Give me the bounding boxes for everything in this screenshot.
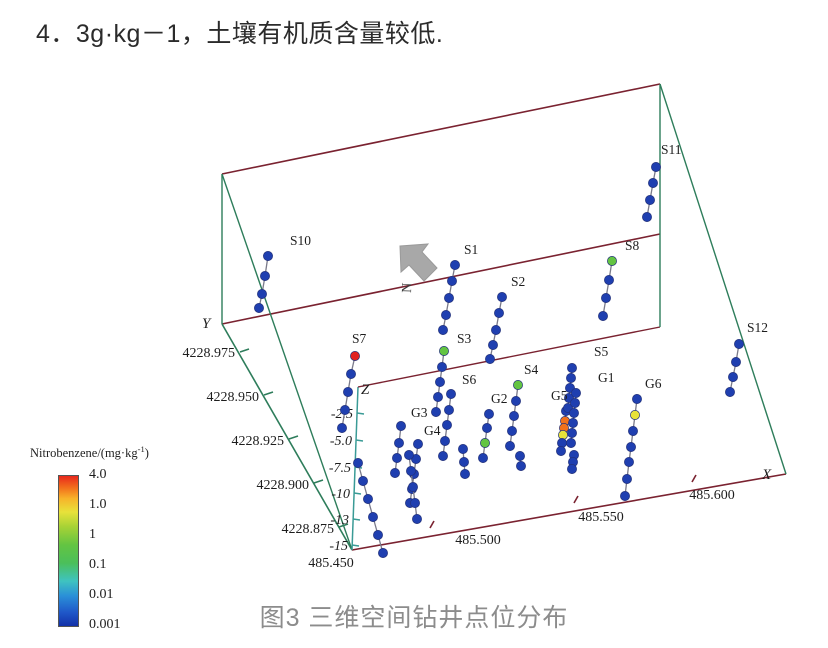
sample-point <box>567 464 576 473</box>
borehole-label-s3: S3 <box>457 331 472 346</box>
sample-point <box>497 292 506 301</box>
sample-point <box>494 308 503 317</box>
north-arrow-shape <box>400 244 437 281</box>
borehole-sb3 <box>458 444 469 478</box>
sample-point <box>378 548 387 557</box>
sample-point <box>509 411 518 420</box>
sample-point <box>413 439 422 448</box>
y-tick-2 <box>264 392 273 395</box>
sample-point <box>651 162 660 171</box>
borehole-s10 <box>254 251 272 312</box>
borehole-label-s1: S1 <box>464 242 478 257</box>
sample-point <box>337 423 346 432</box>
borehole-label-s5: S5 <box>594 344 609 359</box>
sample-point <box>630 410 639 419</box>
sample-point <box>567 428 576 437</box>
borehole-label-g4: G4 <box>424 423 441 438</box>
sample-point <box>598 311 607 320</box>
sample-point <box>404 450 413 459</box>
borehole-label-g6: G6 <box>645 376 662 391</box>
sample-point <box>263 251 272 260</box>
sample-point <box>568 418 577 427</box>
sample-point <box>406 466 415 475</box>
borehole-label-s2: S2 <box>511 274 525 289</box>
borehole-stem <box>259 256 268 308</box>
sample-point <box>628 426 637 435</box>
sample-point <box>390 468 399 477</box>
sample-point <box>566 438 575 447</box>
sample-point <box>604 275 613 284</box>
sample-point <box>480 438 489 447</box>
borehole-label-g2: G2 <box>491 391 508 406</box>
sample-point <box>435 377 444 386</box>
sample-point <box>642 212 651 221</box>
x-tick-3 <box>692 475 696 482</box>
sample-point <box>478 453 487 462</box>
borehole-stem <box>647 167 656 217</box>
sample-point <box>254 303 263 312</box>
borehole-label-s12: S12 <box>747 320 768 335</box>
borehole-sb4 <box>515 451 525 470</box>
y-tick-3 <box>289 436 298 439</box>
figure-caption: 图3 三维空间钻井点位分布 <box>0 598 828 634</box>
x-tick-2 <box>574 496 578 503</box>
sample-point <box>569 408 578 417</box>
borehole-s4 <box>505 380 522 450</box>
sample-point <box>408 482 417 491</box>
sample-point <box>731 357 740 366</box>
borehole-s12 <box>725 339 743 396</box>
borehole-stem <box>603 261 612 316</box>
sample-point <box>343 387 352 396</box>
borehole-stem <box>483 414 489 458</box>
borehole-label-s8: S8 <box>625 238 640 253</box>
axis-tick-marks <box>430 475 696 528</box>
sample-point <box>260 271 269 280</box>
y-tick-1 <box>240 349 249 352</box>
sample-point <box>632 394 641 403</box>
borehole-s8 <box>598 256 616 320</box>
sample-point <box>516 461 525 470</box>
sample-point <box>441 310 450 319</box>
sample-point <box>459 457 468 466</box>
z-tick-6 <box>352 545 359 546</box>
sample-point <box>438 325 447 334</box>
borehole-s11 <box>642 162 660 221</box>
colorbar-label-0: 4.0 <box>89 467 107 483</box>
box-edge-interior-horizontal <box>358 327 660 387</box>
colorbar-label-1: 1.0 <box>89 497 107 513</box>
x-tick-label-2: 485.550 <box>578 510 624 525</box>
x-tick-1 <box>430 521 434 528</box>
z-tick-label-4: -13 <box>330 513 349 528</box>
borehole-label-g3: G3 <box>411 405 428 420</box>
box-edge-top-back <box>222 84 660 174</box>
z-tick-5 <box>353 519 360 520</box>
sample-point <box>622 474 631 483</box>
borehole-g2 <box>478 409 493 462</box>
sample-point <box>392 453 401 462</box>
x-tick-label-3: 485.600 <box>689 488 735 503</box>
sample-point <box>440 436 449 445</box>
sample-point <box>511 396 520 405</box>
y-tick-label-0: 4228.975 <box>183 346 236 361</box>
sample-point <box>394 438 403 447</box>
z-tick-label-1: -5.0 <box>330 434 352 449</box>
sample-point <box>601 293 610 302</box>
sample-point <box>728 372 737 381</box>
z-tick-1 <box>357 413 364 414</box>
y-tick-label-3: 4228.900 <box>257 478 310 493</box>
z-tick-label-3: -10 <box>331 487 350 502</box>
borehole-label-s7: S7 <box>352 331 367 346</box>
north-arrow-icon <box>400 244 437 281</box>
boreholes-layer <box>254 162 743 557</box>
page-header-text: 4．3g·kg－1，土壤有机质含量较低. <box>36 14 443 50</box>
sample-point <box>505 441 514 450</box>
sample-point <box>515 451 524 460</box>
sample-point <box>373 530 382 539</box>
borehole-stem <box>730 344 739 392</box>
sample-point <box>513 380 522 389</box>
sample-point <box>556 446 565 455</box>
sample-point <box>358 476 367 485</box>
sample-point <box>450 260 459 269</box>
sample-point <box>410 498 419 507</box>
sample-point <box>624 457 633 466</box>
sample-point <box>567 363 576 372</box>
legend-title: Nitrobenzene/(mg·kg-1) <box>30 444 205 461</box>
borehole-sb1 <box>353 458 387 557</box>
sample-point <box>433 392 442 401</box>
sample-point <box>566 373 575 382</box>
sample-point <box>444 405 453 414</box>
sample-point <box>488 340 497 349</box>
sample-point <box>340 405 349 414</box>
borehole-label-g5: G5 <box>551 388 568 403</box>
z-tick-4 <box>354 493 361 494</box>
sample-point <box>571 388 580 397</box>
borehole-g3 <box>390 421 405 477</box>
sample-point <box>439 346 448 355</box>
sample-point <box>437 362 446 371</box>
axis-label-x: X <box>761 467 772 483</box>
x-tick-label-0: 485.450 <box>308 556 354 571</box>
sample-point <box>620 491 629 500</box>
sample-point <box>353 458 362 467</box>
sample-point <box>491 325 500 334</box>
sample-point <box>350 351 359 360</box>
sample-point <box>645 195 654 204</box>
sample-point <box>447 276 456 285</box>
borehole-s1 <box>438 260 459 334</box>
colorbar-label-3: 0.1 <box>89 557 107 573</box>
sample-point <box>626 442 635 451</box>
z-tick-2 <box>356 440 363 441</box>
sample-point <box>734 339 743 348</box>
legend-title-tail: ) <box>145 446 149 460</box>
sample-point <box>460 469 469 478</box>
y-tick-label-1: 4228.950 <box>207 390 260 405</box>
sample-point <box>444 293 453 302</box>
sample-point <box>431 407 440 416</box>
colorbar-label-2: 1 <box>89 527 96 543</box>
sample-point <box>412 514 421 523</box>
axis-label-y: Y <box>202 316 212 332</box>
legend-title-exponent: -1 <box>138 444 145 454</box>
sample-point <box>484 409 493 418</box>
borehole-label-s11: S11 <box>661 142 682 157</box>
borehole-label-s10: S10 <box>290 233 311 248</box>
sample-point <box>507 426 516 435</box>
figure-3d-scatter: Y X Z 485.450 485.500 485.550 485.600 42… <box>0 62 828 582</box>
sample-point <box>396 421 405 430</box>
sample-point <box>482 423 491 432</box>
sample-point <box>363 494 372 503</box>
z-tick-label-2: -7.5 <box>329 461 351 476</box>
borehole-s2 <box>485 292 506 363</box>
sample-point <box>607 256 616 265</box>
z-tick-label-5: -15 <box>329 539 348 554</box>
y-tick-4 <box>314 480 323 483</box>
borehole-label-g1: G1 <box>598 370 615 385</box>
legend-title-main: Nitrobenzene/(mg·kg <box>30 446 138 460</box>
y-tick-label-2: 4228.925 <box>232 434 285 449</box>
y-tick-label-4: 4228.875 <box>282 522 335 537</box>
sample-point <box>346 369 355 378</box>
sample-point <box>257 289 266 298</box>
sample-point <box>458 444 467 453</box>
sample-point <box>570 398 579 407</box>
sample-point <box>446 389 455 398</box>
box-edge-mid-left <box>222 234 660 324</box>
borehole-label-s6: S6 <box>462 372 477 387</box>
north-arrow-label: N <box>400 282 415 293</box>
sample-point <box>368 512 377 521</box>
borehole-label-s4: S4 <box>524 362 539 377</box>
borehole-g6 <box>620 394 641 500</box>
sample-point <box>485 354 494 363</box>
sample-point <box>725 387 734 396</box>
sample-point <box>648 178 657 187</box>
sample-point <box>438 451 447 460</box>
sample-point <box>442 420 451 429</box>
x-tick-label-1: 485.500 <box>455 533 501 548</box>
borehole-stem <box>395 426 401 473</box>
borehole-sb5 <box>567 450 578 473</box>
axis-label-z: Z <box>361 382 370 398</box>
